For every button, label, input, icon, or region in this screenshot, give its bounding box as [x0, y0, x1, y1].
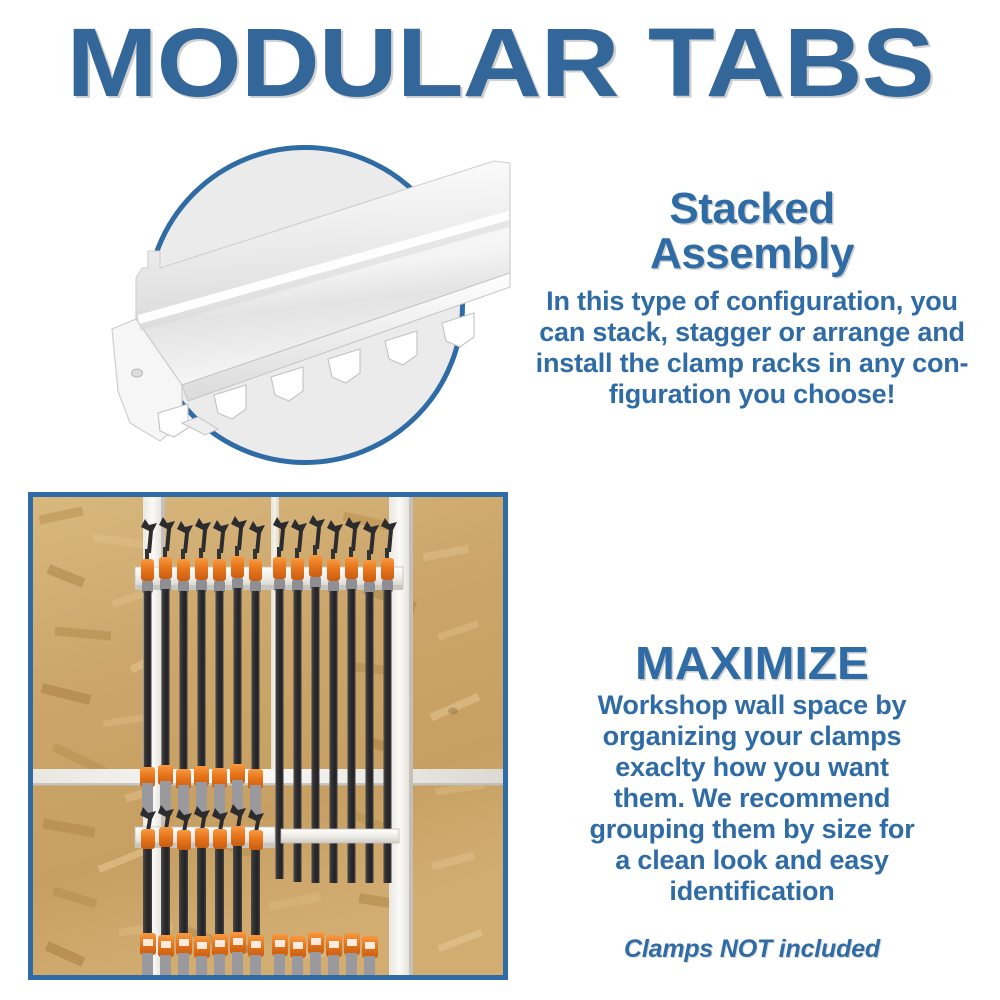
maximize-text-block: MAXIMIZE Workshop wall space by organizi…: [512, 640, 992, 964]
stacked-heading-line-1: Stacked: [512, 186, 992, 231]
clamp-wall-scene: [33, 497, 503, 975]
stacked-assembly-heading: Stacked Assembly: [512, 186, 992, 276]
installation-photo-inner: [33, 497, 503, 975]
stacked-assembly-body: In this type of configuration, you can s…: [512, 286, 992, 410]
maximize-body-line: them. We recommend: [512, 783, 992, 814]
installation-photo: [28, 492, 508, 980]
maximize-body-line: a clean look and easy: [512, 845, 992, 876]
maximize-body-line: Workshop wall space by: [512, 690, 992, 721]
clamp-rack-bracket-icon: [90, 123, 520, 513]
stacked-body-line: can stack, stagger or arrange and: [512, 317, 992, 348]
stacked-body-line: In this type of configuration, you: [512, 286, 992, 317]
maximize-body: Workshop wall space by organizing your c…: [512, 690, 992, 907]
stacked-heading-line-2: Assembly: [512, 231, 992, 276]
clamps-not-included-note: Clamps NOT included: [512, 935, 992, 964]
page-title: MODULAR TABS: [0, 14, 1000, 111]
stacked-assembly-text-block: Stacked Assembly In this type of configu…: [512, 186, 992, 410]
stacked-body-line: install the clamp racks in any con-: [512, 348, 992, 379]
infographic-page: MODULAR TABS: [0, 0, 1000, 1000]
maximize-body-line: exaclty how you want: [512, 752, 992, 783]
product-closeup-inset: [145, 145, 465, 465]
maximize-body-line: organizing your clamps: [512, 721, 992, 752]
stacked-body-line: figuration you choose!: [512, 379, 992, 410]
maximize-body-line: identification: [512, 876, 992, 907]
maximize-body-line: grouping them by size for: [512, 814, 992, 845]
maximize-heading: MAXIMIZE: [502, 640, 1000, 686]
